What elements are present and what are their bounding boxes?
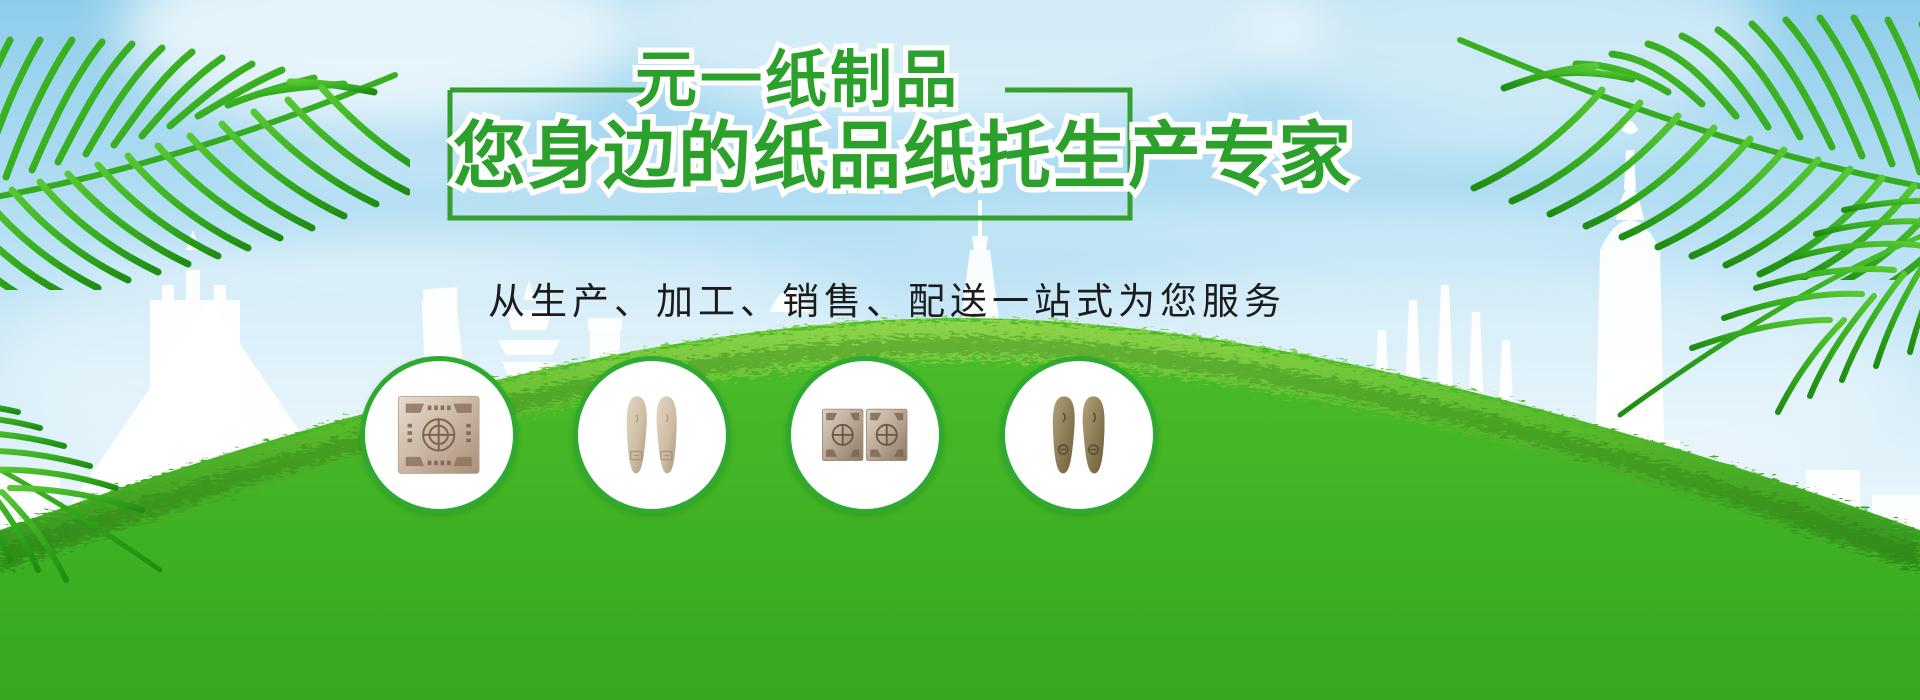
headline-text: 您身边的纸品纸托生产专家 (453, 120, 1353, 193)
product-circle-3[interactable] (786, 356, 944, 514)
product-circle-1[interactable] (360, 356, 518, 514)
product-circle-2[interactable] (573, 356, 731, 514)
subtitle-text: 从生产、加工、销售、配送一站式为您服务 (488, 282, 1286, 323)
brand-name: 元一纸制品 (635, 50, 960, 112)
promo-banner: 元一纸制品 您身边的纸品纸托生产专家 从生产、加工、销售、配送一站式为您服务 (0, 0, 1920, 700)
headline-block: 元一纸制品 您身边的纸品纸托生产专家 (445, 88, 1135, 223)
green-hill (0, 280, 1920, 700)
molded-pulp-shoe-trees-dark-image (1021, 389, 1136, 481)
product-circle-4[interactable] (1000, 356, 1158, 514)
molded-pulp-square-tray-image (381, 389, 496, 481)
molded-pulp-pair-trays-image (807, 389, 922, 481)
molded-pulp-shoe-trees-light-image (594, 389, 709, 481)
